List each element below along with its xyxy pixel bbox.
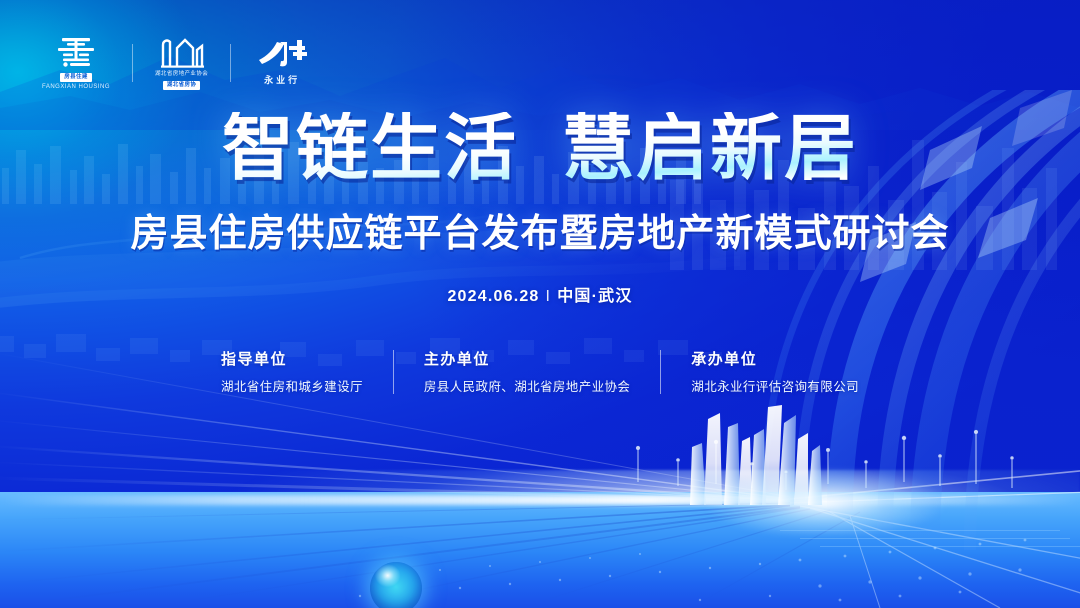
- organizer-divider-2: [660, 350, 661, 394]
- futuristic-skyline: [690, 405, 960, 515]
- logo-divider-1: [132, 44, 133, 82]
- event-location: 中国·武汉: [557, 288, 632, 305]
- yongyehang-logo-mark: [253, 40, 311, 70]
- yongyehang-logo-caption: 永业行: [264, 74, 300, 86]
- glowing-sphere: [370, 562, 422, 608]
- hubei-real-estate-association-logo-caption: 湖北省房地产业协会: [155, 71, 208, 78]
- organizer-value-guidance: 湖北省住房和城乡建设厅: [221, 376, 363, 395]
- organizer-label-guidance: 指导单位: [221, 348, 363, 369]
- main-title-right: 慧启新居: [562, 106, 858, 190]
- organizer-value-host: 房县人民政府、湖北省房地产业协会: [424, 376, 630, 395]
- event-poster: 房县住建 FANGXIAN HOUSING 湖北省房地产业协会 湖北省房协: [0, 0, 1080, 608]
- organizer-block-host: 主办单位 房县人民政府、湖北省房地产业协会: [424, 348, 630, 396]
- sponsor-logo-bar: 房县住建 FANGXIAN HOUSING 湖北省房地产业协会 湖北省房协: [42, 36, 311, 90]
- fangxian-housing-logo-sub: FANGXIAN HOUSING: [42, 84, 110, 90]
- organizer-block-guidance: 指导单位 湖北省住房和城乡建设厅: [221, 348, 363, 396]
- organizer-list: 指导单位 湖北省住房和城乡建设厅 主办单位 房县人民政府、湖北省房地产业协会 承…: [0, 348, 1080, 396]
- logo-divider-2: [230, 44, 231, 82]
- fangxian-housing-logo[interactable]: 房县住建 FANGXIAN HOUSING: [42, 36, 110, 90]
- main-title-left: 智链生活: [222, 106, 518, 190]
- hubei-real-estate-association-logo[interactable]: 湖北省房地产业协会 湖北省房协: [155, 36, 208, 91]
- fangxian-housing-logo-caption: 房县住建: [60, 73, 92, 82]
- hubei-real-estate-association-logo-sub: 湖北省房协: [163, 81, 201, 90]
- poster-subtitle: 房县住房供应链平台发布暨房地产新模式研讨会: [0, 213, 1080, 255]
- organizer-block-organizer: 承办单位 湖北永业行评估咨询有限公司: [691, 348, 859, 396]
- organizer-value-organizer: 湖北永业行评估咨询有限公司: [691, 376, 859, 395]
- date-location-separator: I: [546, 288, 552, 305]
- event-date: 2024.06.28: [447, 288, 539, 305]
- event-datetime-line: 2024.06.28I中国·武汉: [0, 282, 1080, 306]
- yongyehang-logo[interactable]: 永业行: [253, 40, 311, 86]
- organizer-divider-1: [393, 350, 394, 394]
- poster-main-title: 智链生活慧启新居: [0, 112, 1080, 184]
- fangxian-housing-logo-mark: [54, 36, 98, 70]
- organizer-label-organizer: 承办单位: [691, 348, 859, 369]
- organizer-label-host: 主办单位: [424, 348, 630, 369]
- hubei-real-estate-association-logo-mark: [157, 36, 207, 68]
